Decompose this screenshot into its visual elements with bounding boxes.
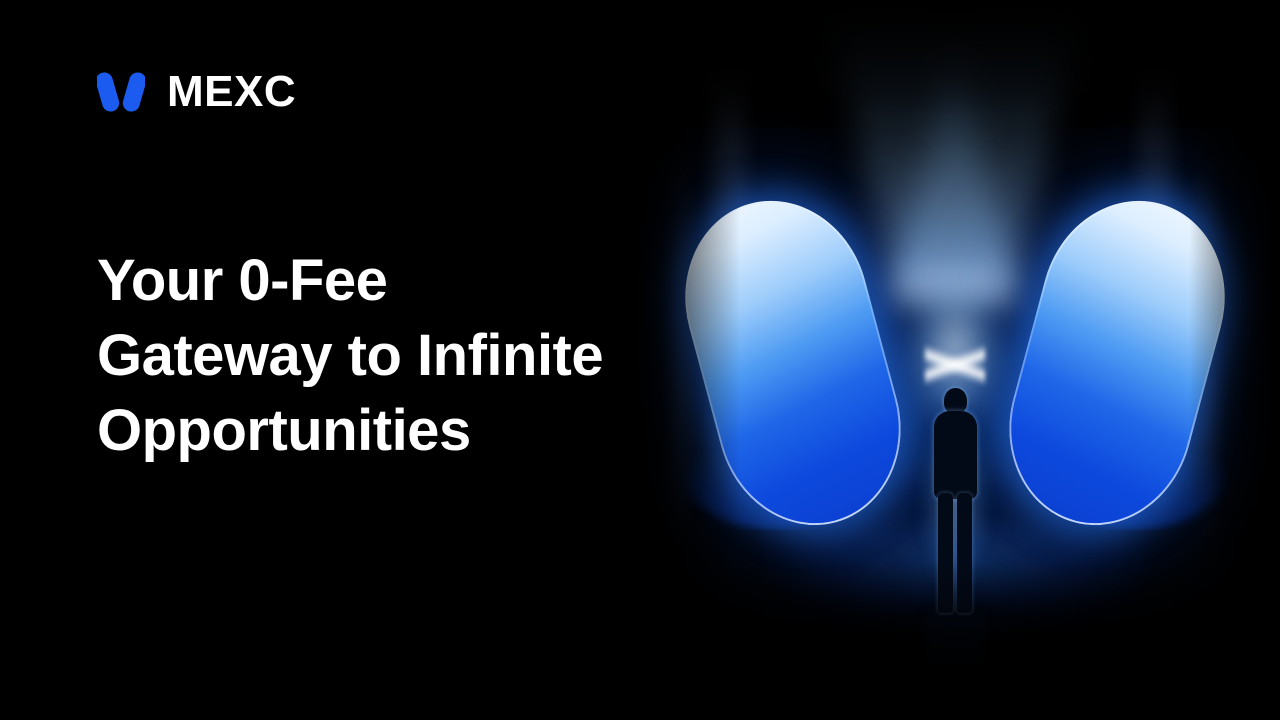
person-leg-right	[957, 493, 972, 613]
headline-line-3: Opportunities	[97, 393, 717, 468]
headline-line-1: Your 0-Fee	[97, 243, 717, 318]
person-leg-left	[938, 493, 953, 613]
hero-artwork	[630, 0, 1280, 720]
hero-banner: MEXC Your 0-Fee Gateway to Infinite Oppo…	[0, 0, 1280, 720]
m-right-lobe	[986, 180, 1247, 546]
headline-line-2: Gateway to Infinite	[97, 318, 717, 393]
person-torso	[934, 411, 977, 499]
page-title: Your 0-Fee Gateway to Infinite Opportuni…	[97, 243, 717, 468]
mexc-m-logo-icon	[97, 68, 145, 116]
person-silhouette	[924, 388, 986, 613]
brand-logo[interactable]: MEXC	[97, 68, 296, 116]
brand-wordmark: MEXC	[167, 70, 296, 114]
